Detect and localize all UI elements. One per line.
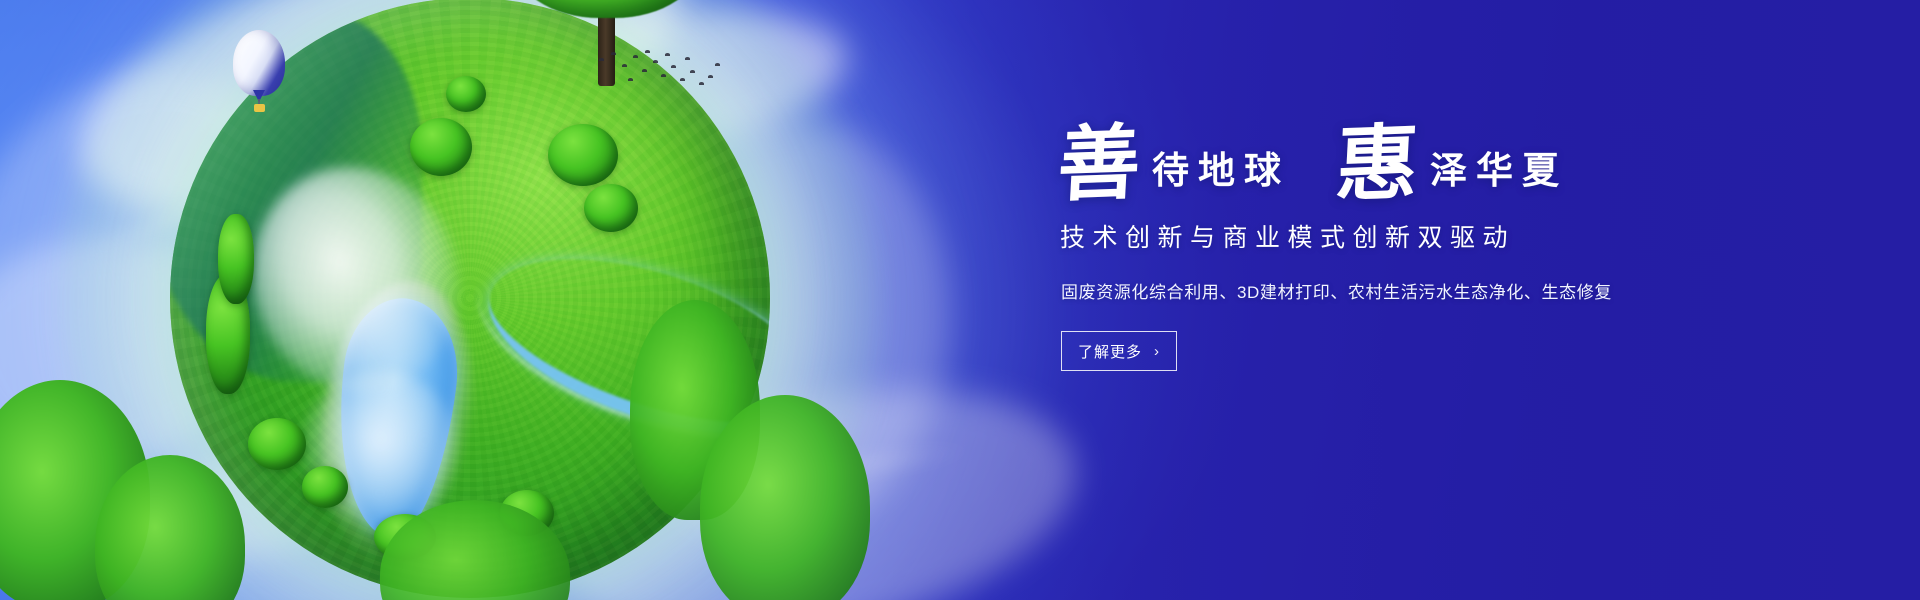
bird-icon [633, 55, 638, 58]
bush-icon [410, 118, 472, 176]
bush-icon [584, 184, 638, 232]
headline-phrase2-big: 惠 [1334, 125, 1420, 206]
bird-icon [665, 53, 670, 56]
bird-icon [599, 58, 604, 61]
bird-icon [653, 60, 658, 63]
hero-subtitle: 技术创新与商业模式创新双驱动 [1060, 218, 1818, 254]
hero-content: 善 待地球 惠 泽华夏 技术创新与商业模式创新双驱动 固废资源化综合利用、3D建… [1058, 112, 1818, 371]
headline: 善 待地球 惠 泽华夏 [1058, 112, 1818, 204]
balloon-envelope [233, 30, 285, 96]
bush-icon [218, 214, 254, 304]
bird-icon [715, 63, 720, 66]
birds-flock-icon [595, 48, 725, 94]
bird-icon [661, 74, 666, 77]
bird-icon [671, 65, 676, 68]
bird-icon [622, 64, 627, 67]
bird-icon [642, 69, 647, 72]
bird-icon [685, 57, 690, 60]
learn-more-button[interactable]: 了解更多 › [1061, 331, 1177, 371]
chevron-right-icon: › [1154, 343, 1160, 360]
bird-icon [708, 75, 713, 78]
bush-icon [248, 418, 306, 470]
headline-phrase1-big: 善 [1056, 125, 1142, 206]
bird-icon [645, 50, 650, 53]
bush-icon [302, 466, 348, 508]
headline-phrase2-small: 泽华夏 [1418, 140, 1568, 204]
headline-phrase1-small: 待地球 [1140, 140, 1290, 204]
bird-icon [628, 78, 633, 81]
tree-crown [512, 0, 702, 18]
balloon-basket [254, 104, 265, 112]
hero-banner: 善 待地球 惠 泽华夏 技术创新与商业模式创新双驱动 固废资源化综合利用、3D建… [0, 0, 1920, 600]
bush-icon [446, 76, 486, 112]
bird-icon [611, 52, 616, 55]
bird-icon [690, 70, 695, 73]
bird-icon [680, 78, 685, 81]
hero-description: 固废资源化综合利用、3D建材打印、农村生活污水生态净化、生态修复 [1061, 278, 1818, 303]
hot-air-balloon-icon [233, 30, 285, 116]
learn-more-label: 了解更多 [1078, 341, 1142, 362]
bird-icon [699, 82, 704, 85]
bush-icon [548, 124, 618, 186]
